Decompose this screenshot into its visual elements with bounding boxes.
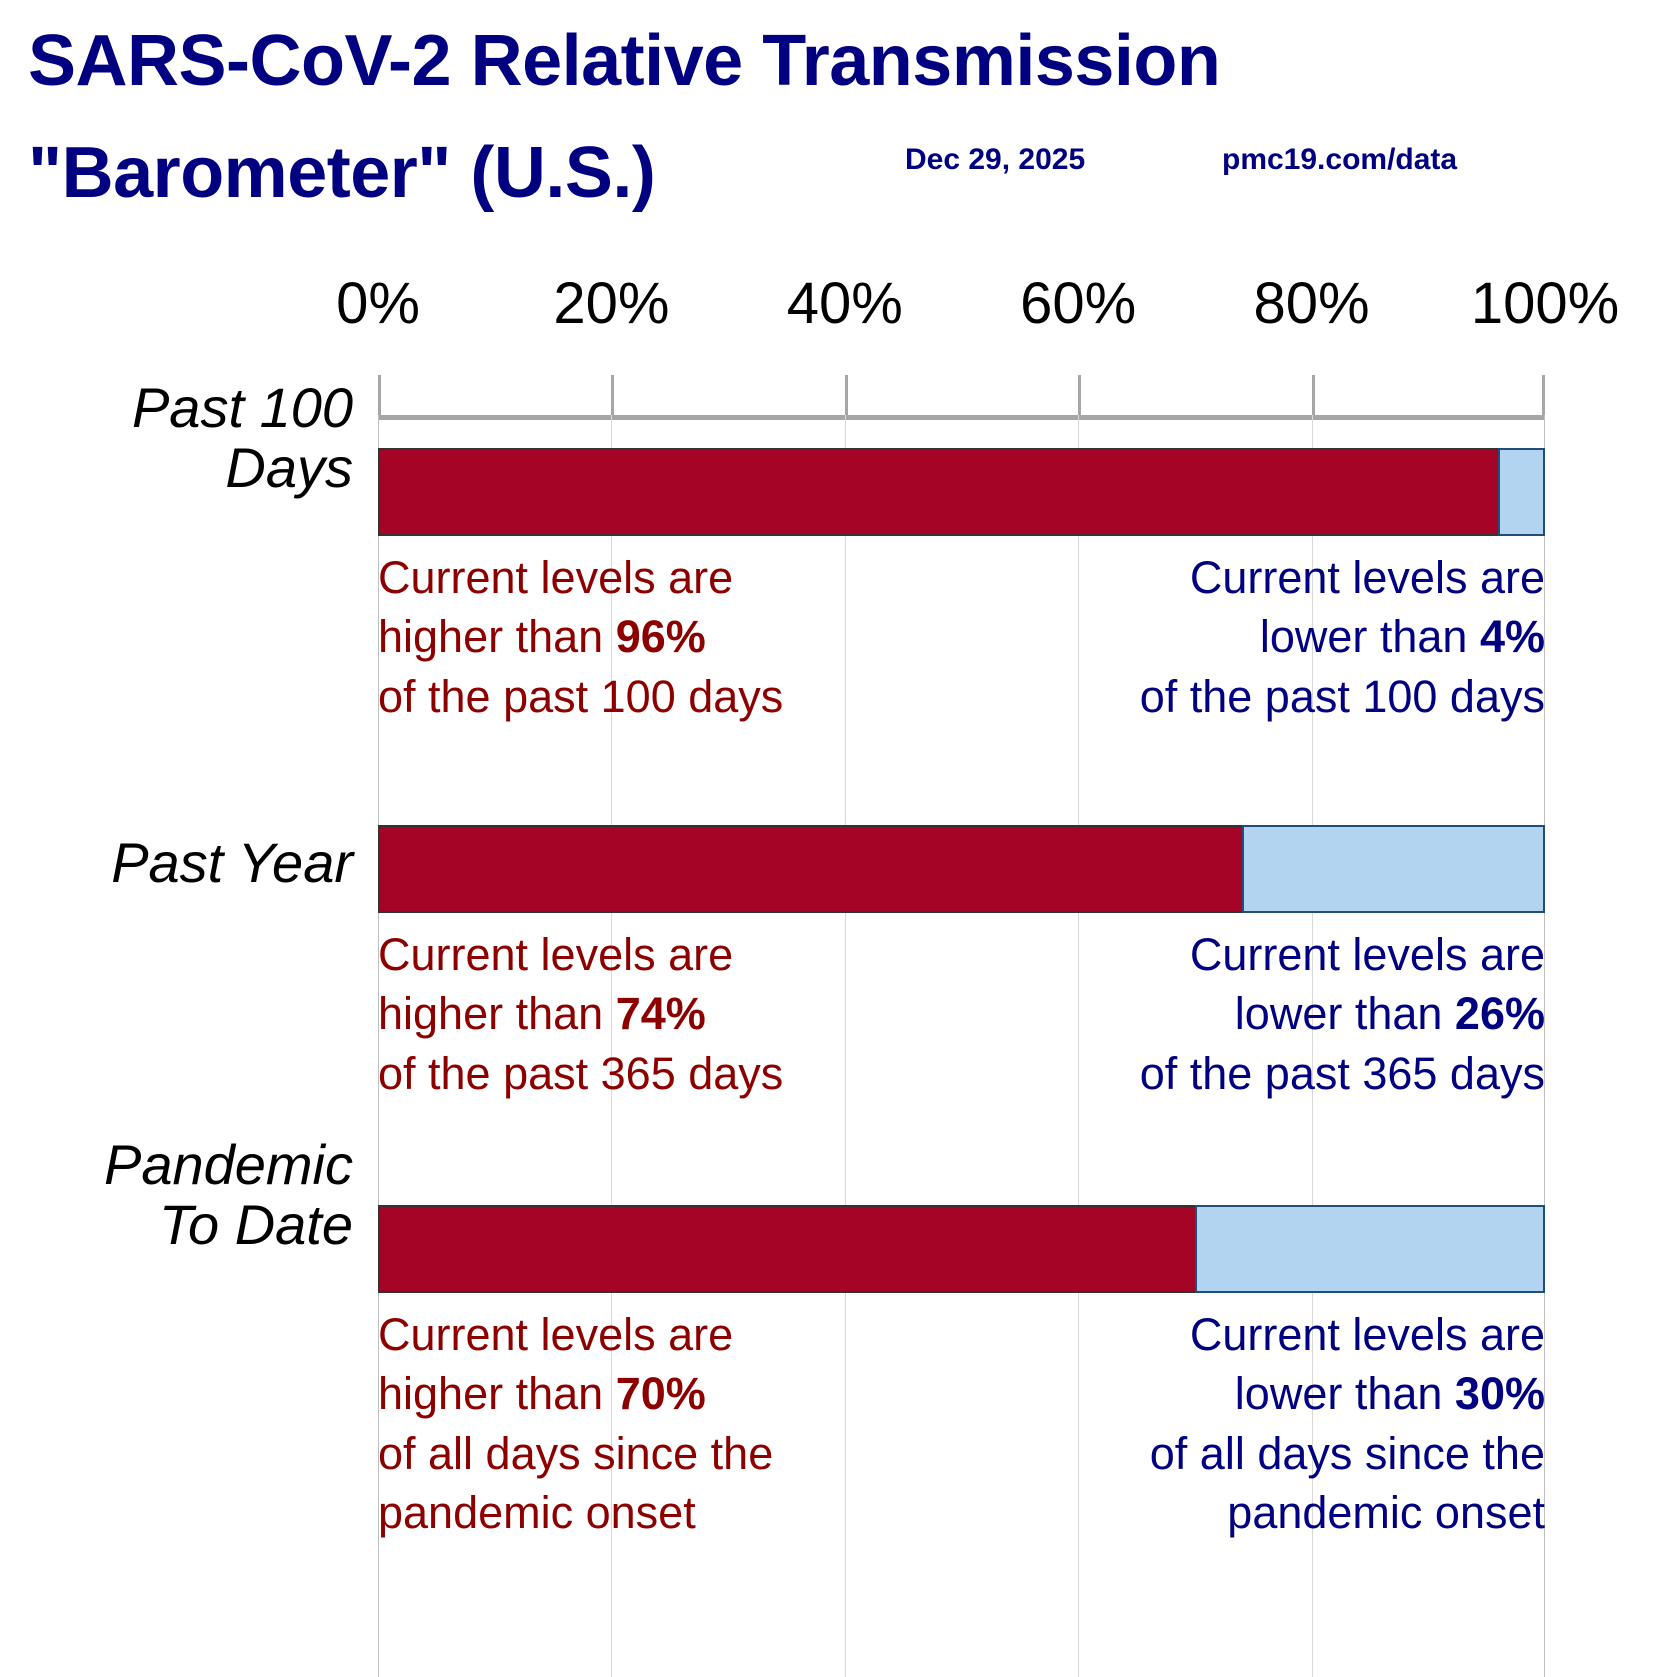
annotation-higher-line-2: higher than 96% bbox=[378, 607, 783, 666]
stacked-bar[interactable] bbox=[378, 825, 1545, 913]
bar-segment-lower[interactable] bbox=[1195, 1205, 1545, 1293]
annotation-higher-line-3: of all days since the bbox=[378, 1424, 773, 1483]
annotation-lower-percent-value: 30% bbox=[1455, 1368, 1545, 1419]
annotation-lower-percent-value: 4% bbox=[1480, 611, 1545, 662]
annotation-lower: Current levels arelower than 4%of the pa… bbox=[1140, 548, 1545, 726]
stacked-bar[interactable] bbox=[378, 1205, 1545, 1293]
tick-mark-20 bbox=[611, 375, 614, 415]
annotation-higher-line-1: Current levels are bbox=[378, 925, 783, 984]
plot-area: Past 100DaysCurrent levels arehigher tha… bbox=[378, 415, 1545, 1677]
annotation-lower-line-2: lower than 30% bbox=[1150, 1364, 1545, 1423]
annotation-lower-line-2-text: lower than bbox=[1235, 1368, 1455, 1419]
barometer-chart: 0%20%40%60%80%100% Past 100DaysCurrent l… bbox=[0, 250, 1670, 1677]
page-title-line-2: "Barometer" (U.S.) bbox=[28, 137, 655, 209]
gridline-40 bbox=[845, 415, 846, 1677]
tick-mark-40 bbox=[845, 375, 848, 415]
tick-mark-80 bbox=[1312, 375, 1315, 415]
category-label: Past Year bbox=[0, 833, 353, 893]
annotation-lower: Current levels arelower than 26%of the p… bbox=[1140, 925, 1545, 1103]
annotation-lower-line-3: of the past 100 days bbox=[1140, 667, 1545, 726]
annotation-higher-line-2: higher than 70% bbox=[378, 1364, 773, 1423]
tick-mark-0 bbox=[378, 375, 381, 415]
annotation-higher-line-2-text: higher than bbox=[378, 1368, 616, 1419]
category-label-line-1: Pandemic bbox=[0, 1135, 353, 1195]
tick-mark-60 bbox=[1078, 375, 1081, 415]
annotation-higher-percent-value: 96% bbox=[616, 611, 706, 662]
annotation-lower-line-2-text: lower than bbox=[1260, 611, 1480, 662]
annotation-higher-line-3: of the past 100 days bbox=[378, 667, 783, 726]
annotation-lower-line-2-text: lower than bbox=[1235, 988, 1455, 1039]
annotation-lower-line-3: of the past 365 days bbox=[1140, 1044, 1545, 1103]
annotation-higher-percent-value: 70% bbox=[616, 1368, 706, 1419]
category-label: PandemicTo Date bbox=[0, 1135, 353, 1256]
x-tick-label-80: 80% bbox=[1254, 270, 1370, 337]
annotation-higher-line-1: Current levels are bbox=[378, 548, 783, 607]
annotation-higher: Current levels arehigher than 96%of the … bbox=[378, 548, 783, 726]
chart-header: SARS-CoV-2 Relative Transmission "Barome… bbox=[0, 0, 1670, 250]
annotation-higher: Current levels arehigher than 70%of all … bbox=[378, 1305, 773, 1543]
annotation-lower-line-4: pandemic onset bbox=[1150, 1483, 1545, 1542]
bar-segment-higher[interactable] bbox=[378, 448, 1498, 536]
header-source-link[interactable]: pmc19.com/data bbox=[1222, 143, 1457, 177]
bar-segment-lower[interactable] bbox=[1242, 825, 1545, 913]
header-date: Dec 29, 2025 bbox=[905, 143, 1085, 177]
annotation-higher-line-2-text: higher than bbox=[378, 988, 616, 1039]
x-tick-label-100: 100% bbox=[1471, 270, 1619, 337]
annotation-higher-line-4: pandemic onset bbox=[378, 1483, 773, 1542]
gridline-60 bbox=[1078, 415, 1079, 1677]
category-label-line-2: To Date bbox=[0, 1195, 353, 1255]
bar-segment-higher[interactable] bbox=[378, 1205, 1195, 1293]
annotation-higher-line-2: higher than 74% bbox=[378, 984, 783, 1043]
annotation-higher: Current levels arehigher than 74%of the … bbox=[378, 925, 783, 1103]
annotation-lower-line-1: Current levels are bbox=[1140, 925, 1545, 984]
annotation-lower-line-2: lower than 26% bbox=[1140, 984, 1545, 1043]
x-tick-label-20: 20% bbox=[553, 270, 669, 337]
annotation-higher-line-1: Current levels are bbox=[378, 1305, 773, 1364]
annotation-lower-percent-value: 26% bbox=[1455, 988, 1545, 1039]
annotation-lower-line-3: of all days since the bbox=[1150, 1424, 1545, 1483]
category-label: Past 100Days bbox=[0, 378, 353, 499]
annotation-lower-line-1: Current levels are bbox=[1140, 548, 1545, 607]
x-tick-label-40: 40% bbox=[787, 270, 903, 337]
annotation-lower: Current levels arelower than 30%of all d… bbox=[1150, 1305, 1545, 1543]
annotation-higher-line-2-text: higher than bbox=[378, 611, 616, 662]
category-label-line-1: Past 100 bbox=[0, 378, 353, 438]
category-label-line-2: Days bbox=[0, 438, 353, 498]
category-label-line-1: Past Year bbox=[0, 833, 353, 893]
x-axis-line bbox=[378, 415, 1545, 420]
bar-segment-higher[interactable] bbox=[378, 825, 1242, 913]
stacked-bar[interactable] bbox=[378, 448, 1545, 536]
x-tick-label-0: 0% bbox=[336, 270, 420, 337]
annotation-lower-line-1: Current levels are bbox=[1150, 1305, 1545, 1364]
x-tick-label-60: 60% bbox=[1020, 270, 1136, 337]
annotation-higher-line-3: of the past 365 days bbox=[378, 1044, 783, 1103]
tick-mark-100 bbox=[1542, 375, 1545, 415]
annotation-lower-line-2: lower than 4% bbox=[1140, 607, 1545, 666]
bar-segment-lower[interactable] bbox=[1498, 448, 1545, 536]
annotation-higher-percent-value: 74% bbox=[616, 988, 706, 1039]
page-title-line-1: SARS-CoV-2 Relative Transmission bbox=[28, 25, 1220, 97]
